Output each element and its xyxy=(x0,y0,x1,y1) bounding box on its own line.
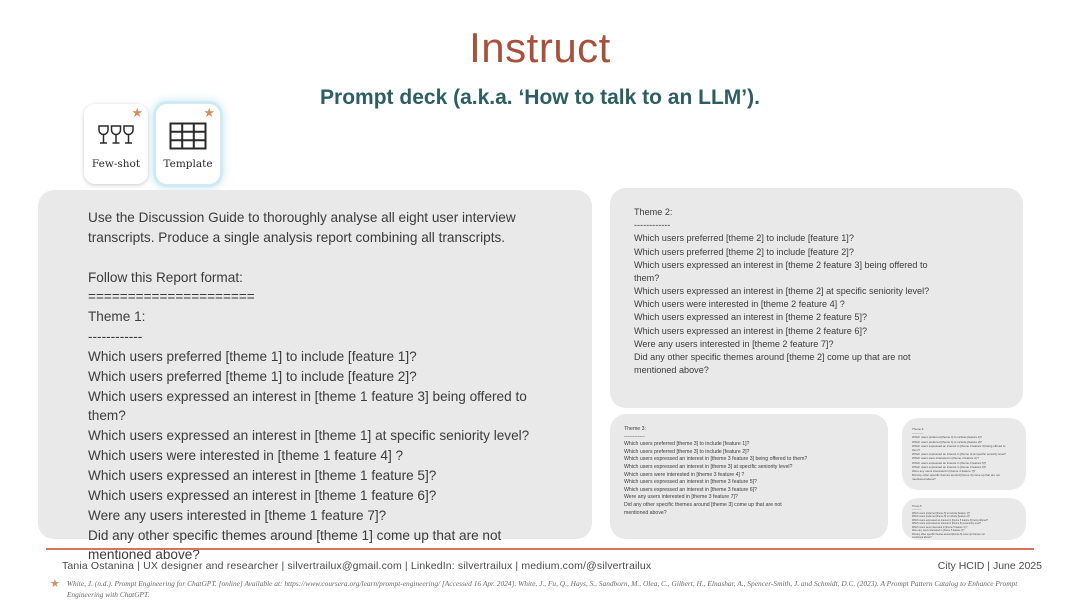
footer-citation-row: ★ White, J. (n.d.). Prompt Engineering f… xyxy=(50,578,1040,601)
table-grid-icon xyxy=(169,121,207,151)
prompt-panel-theme-4: Theme 4: ------------ Which users prefer… xyxy=(902,418,1026,490)
technique-card-label: Few-shot xyxy=(92,158,140,170)
prompt-panel-theme-5: Theme 5: ------------ Which users prefer… xyxy=(902,498,1026,540)
footer-author-contact: Tania Ostanina | UX designer and researc… xyxy=(62,560,651,572)
technique-card-few-shot[interactable]: ★ Few-shot xyxy=(84,104,148,184)
star-icon: ★ xyxy=(203,106,215,119)
prompt-panel-theme-2: Theme 2: ------------ Which users prefer… xyxy=(610,188,1023,408)
prompt-panel-theme-3: Theme 3: ------------ Which users prefer… xyxy=(610,414,888,539)
wine-glasses-icon xyxy=(96,121,136,151)
technique-card-label: Template xyxy=(163,158,212,170)
prompt-text-theme-2: Theme 2: ------------ Which users prefer… xyxy=(634,206,1005,377)
star-icon: ★ xyxy=(50,578,60,592)
technique-card-template[interactable]: ★ Template xyxy=(156,104,220,184)
footer-divider xyxy=(46,548,1034,550)
prompt-panel-theme-1: Use the Discussion Guide to thoroughly a… xyxy=(38,190,592,539)
prompt-text-theme-1: Use the Discussion Guide to thoroughly a… xyxy=(88,208,570,565)
footer-affiliation: City HCID | June 2025 xyxy=(938,560,1042,572)
page-title: Instruct xyxy=(0,24,1080,72)
prompt-text-theme-3: Theme 3: ------------ Which users prefer… xyxy=(624,426,878,517)
prompt-text-theme-4: Theme 4: ------------ Which users prefer… xyxy=(912,427,1018,482)
star-icon: ★ xyxy=(131,106,143,119)
footer-citation-text: White, J. (n.d.). Prompt Engineering for… xyxy=(67,578,1040,601)
prompt-text-theme-5: Theme 5: ------------ Which users prefer… xyxy=(912,505,1018,540)
technique-card-group: ★ Few-shot ★ Template xyxy=(84,104,220,184)
